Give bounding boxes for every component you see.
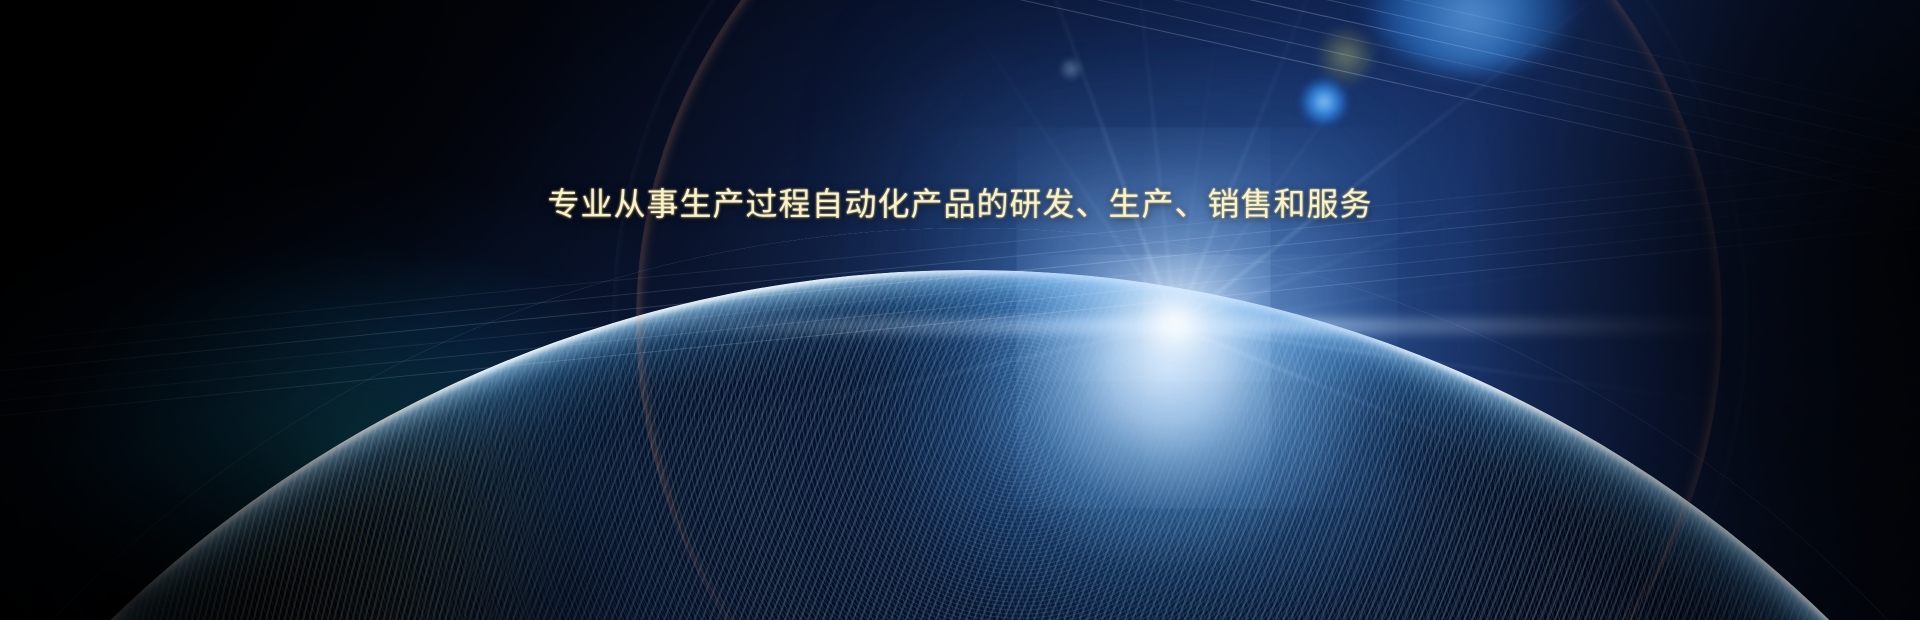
banner-headline: 专业从事生产过程自动化产品的研发、生产、销售和服务 [0, 178, 1920, 230]
lens-flare-orb-small-blue [1300, 78, 1348, 126]
lens-flare-orb-olive [1318, 28, 1374, 84]
lens-flare-orb-faint [1060, 58, 1082, 80]
sun-anamorphic-streak [640, 318, 1740, 334]
hero-banner: 专业从事生产过程自动化产品的研发、生产、销售和服务 [0, 0, 1920, 620]
